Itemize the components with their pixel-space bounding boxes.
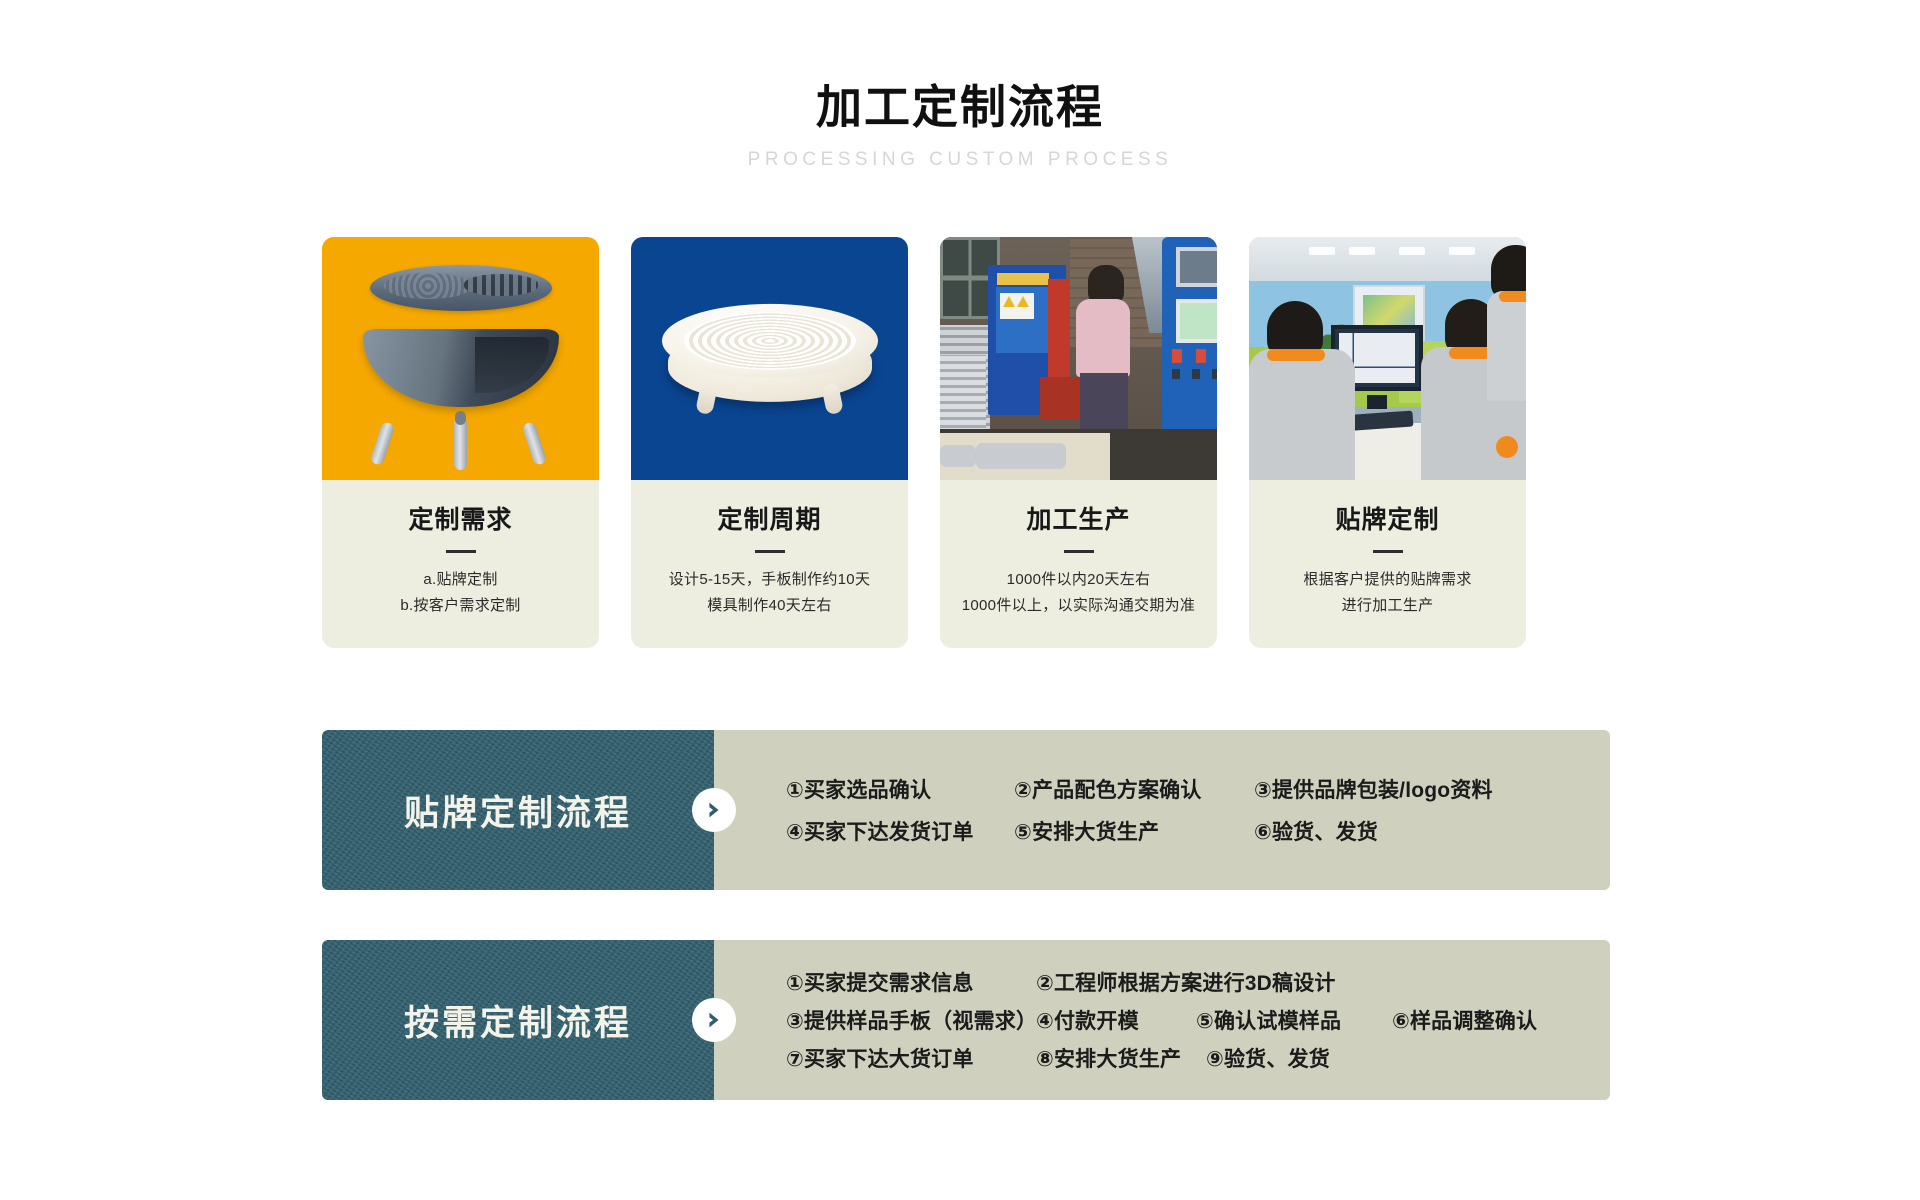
process-card-line: 模具制作40天左右 <box>641 593 898 619</box>
white-prototype-model-photo <box>631 237 908 480</box>
panel-screen <box>1176 247 1217 287</box>
red-press-base <box>1040 377 1080 419</box>
watermark-logo-icon <box>1496 436 1518 458</box>
grill-lid-shape <box>370 265 552 311</box>
process-step: ⑤安排大货生产 <box>1014 816 1254 846</box>
title-divider <box>1373 550 1403 553</box>
oem-process-label-text: 贴牌定制流程 <box>404 785 632 836</box>
process-card[interactable]: 贴牌定制 根据客户提供的贴牌需求 进行加工生产 <box>1249 237 1526 648</box>
custom-process-steps: ①买家提交需求信息 ②工程师根据方案进行3D稿设计 ③提供样品手板（视需求） ④… <box>714 940 1610 1100</box>
ceiling-light <box>1399 247 1425 255</box>
process-card-title: 贴牌定制 <box>1259 500 1516 536</box>
process-step: ⑥样品调整确认 <box>1392 1005 1537 1035</box>
process-card-line: 进行加工生产 <box>1259 593 1516 619</box>
engineer-collar <box>1499 291 1526 302</box>
process-card-title: 定制周期 <box>641 500 898 536</box>
process-step: ④买家下达发货订单 <box>786 816 1014 846</box>
process-step: ②产品配色方案确认 <box>1014 774 1254 804</box>
process-card-line: 1000件以上，以实际沟通交期为准 <box>950 593 1207 619</box>
prototype-model-shape <box>662 303 878 409</box>
process-card[interactable]: 定制周期 设计5-15天，手板制作约10天 模具制作40天左右 <box>631 237 908 648</box>
process-card[interactable]: 定制需求 a.贴牌定制 b.按客户需求定制 <box>322 237 599 648</box>
engineer-shirt <box>1249 349 1355 480</box>
process-step: ①买家提交需求信息 <box>786 967 1036 997</box>
office-engineers-cad-photo <box>1249 237 1526 480</box>
process-step: ⑧安排大货生产 <box>1036 1043 1206 1073</box>
oem-process-bar: 贴牌定制流程 ①买家选品确认 ②产品配色方案确认 ③提供品牌包装/logo资料 … <box>322 730 1610 890</box>
panel-buttons <box>1172 349 1217 363</box>
grill-leg-shape <box>522 421 548 466</box>
process-card-title: 定制需求 <box>332 500 589 536</box>
custom-process-bar: 按需定制流程 ①买家提交需求信息 ②工程师根据方案进行3D稿设计 ③提供样品手板… <box>322 940 1610 1100</box>
process-step: ②工程师根据方案进行3D稿设计 <box>1036 967 1336 997</box>
machine-label-sign <box>997 273 1049 285</box>
title-divider <box>1064 550 1094 553</box>
process-step: ⑥验货、发货 <box>1254 816 1378 846</box>
chevron-right-icon <box>692 788 736 832</box>
engineer-shirt <box>1487 291 1526 401</box>
process-card-body: 加工生产 1000件以内20天左右 1000件以上，以实际沟通交期为准 <box>940 480 1217 648</box>
process-step-row: ①买家提交需求信息 ②工程师根据方案进行3D稿设计 <box>786 967 1610 997</box>
ceiling-light <box>1309 247 1335 255</box>
page-header: 加工定制流程 PROCESSING CUSTOM PROCESS <box>0 0 1920 171</box>
factory-machine-worker-photo <box>940 237 1217 480</box>
ceiling-light <box>1349 247 1375 255</box>
panel-buttons <box>1172 369 1217 379</box>
grill-leg-shape <box>454 417 467 470</box>
oem-process-steps: ①买家选品确认 ②产品配色方案确认 ③提供品牌包装/logo资料 ④买家下达发货… <box>714 730 1610 890</box>
process-step: ③提供样品手板（视需求） <box>786 1005 1036 1035</box>
page-title: 加工定制流程 <box>0 82 1920 133</box>
chevron-right-icon <box>692 998 736 1042</box>
process-page: 加工定制流程 PROCESSING CUSTOM PROCESS 定制需求 a.… <box>0 0 1920 1200</box>
title-divider <box>755 550 785 553</box>
grill-leg-shape <box>370 421 396 466</box>
process-step: ④付款开模 <box>1036 1005 1196 1035</box>
page-subtitle: PROCESSING CUSTOM PROCESS <box>0 149 1920 171</box>
worker-shirt <box>1076 299 1130 377</box>
process-step: ③提供品牌包装/logo资料 <box>1254 774 1493 804</box>
exploded-grill-illustration <box>322 237 599 480</box>
process-card[interactable]: 加工生产 1000件以内20天左右 1000件以上，以实际沟通交期为准 <box>940 237 1217 648</box>
process-card-body: 贴牌定制 根据客户提供的贴牌需求 进行加工生产 <box>1249 480 1526 648</box>
process-step-row: ④买家下达发货订单 ⑤安排大货生产 ⑥验货、发货 <box>786 816 1610 846</box>
process-card-title: 加工生产 <box>950 500 1207 536</box>
process-card-body: 定制周期 设计5-15天，手板制作约10天 模具制作40天左右 <box>631 480 908 648</box>
molded-part <box>940 445 976 467</box>
title-divider <box>446 550 476 553</box>
custom-process-label-text: 按需定制流程 <box>404 995 632 1046</box>
process-step-row: ③提供样品手板（视需求） ④付款开模 ⑤确认试模样品 ⑥样品调整确认 <box>786 1005 1610 1035</box>
ceiling-light <box>1449 247 1475 255</box>
process-step: ⑨验货、发货 <box>1206 1043 1330 1073</box>
warning-sticker <box>1000 293 1034 319</box>
process-card-line: a.贴牌定制 <box>332 567 589 593</box>
monitor-stand <box>1367 395 1387 409</box>
process-step: ⑤确认试模样品 <box>1196 1005 1392 1035</box>
molded-part <box>976 443 1066 469</box>
panel-screen <box>1176 299 1217 343</box>
process-card-body: 定制需求 a.贴牌定制 b.按客户需求定制 <box>322 480 599 648</box>
process-step-row: ①买家选品确认 ②产品配色方案确认 ③提供品牌包装/logo资料 <box>786 774 1610 804</box>
process-card-line: 根据客户提供的贴牌需求 <box>1259 567 1516 593</box>
oem-process-label: 贴牌定制流程 <box>322 730 714 890</box>
prototype-rings <box>684 311 856 369</box>
engineer-collar <box>1267 349 1325 361</box>
process-card-line: 1000件以内20天左右 <box>950 567 1207 593</box>
process-card-line: 设计5-15天，手板制作约10天 <box>641 567 898 593</box>
process-step: ⑦买家下达大货订单 <box>786 1043 1036 1073</box>
process-card-list: 定制需求 a.贴牌定制 b.按客户需求定制 定制周期 设计5-15 <box>322 237 1526 648</box>
process-card-line: b.按客户需求定制 <box>332 593 589 619</box>
custom-process-label: 按需定制流程 <box>322 940 714 1100</box>
process-step: ①买家选品确认 <box>786 774 1014 804</box>
process-step-row: ⑦买家下达大货订单 ⑧安排大货生产 ⑨验货、发货 <box>786 1043 1610 1073</box>
grill-bowl-shape <box>363 329 559 407</box>
